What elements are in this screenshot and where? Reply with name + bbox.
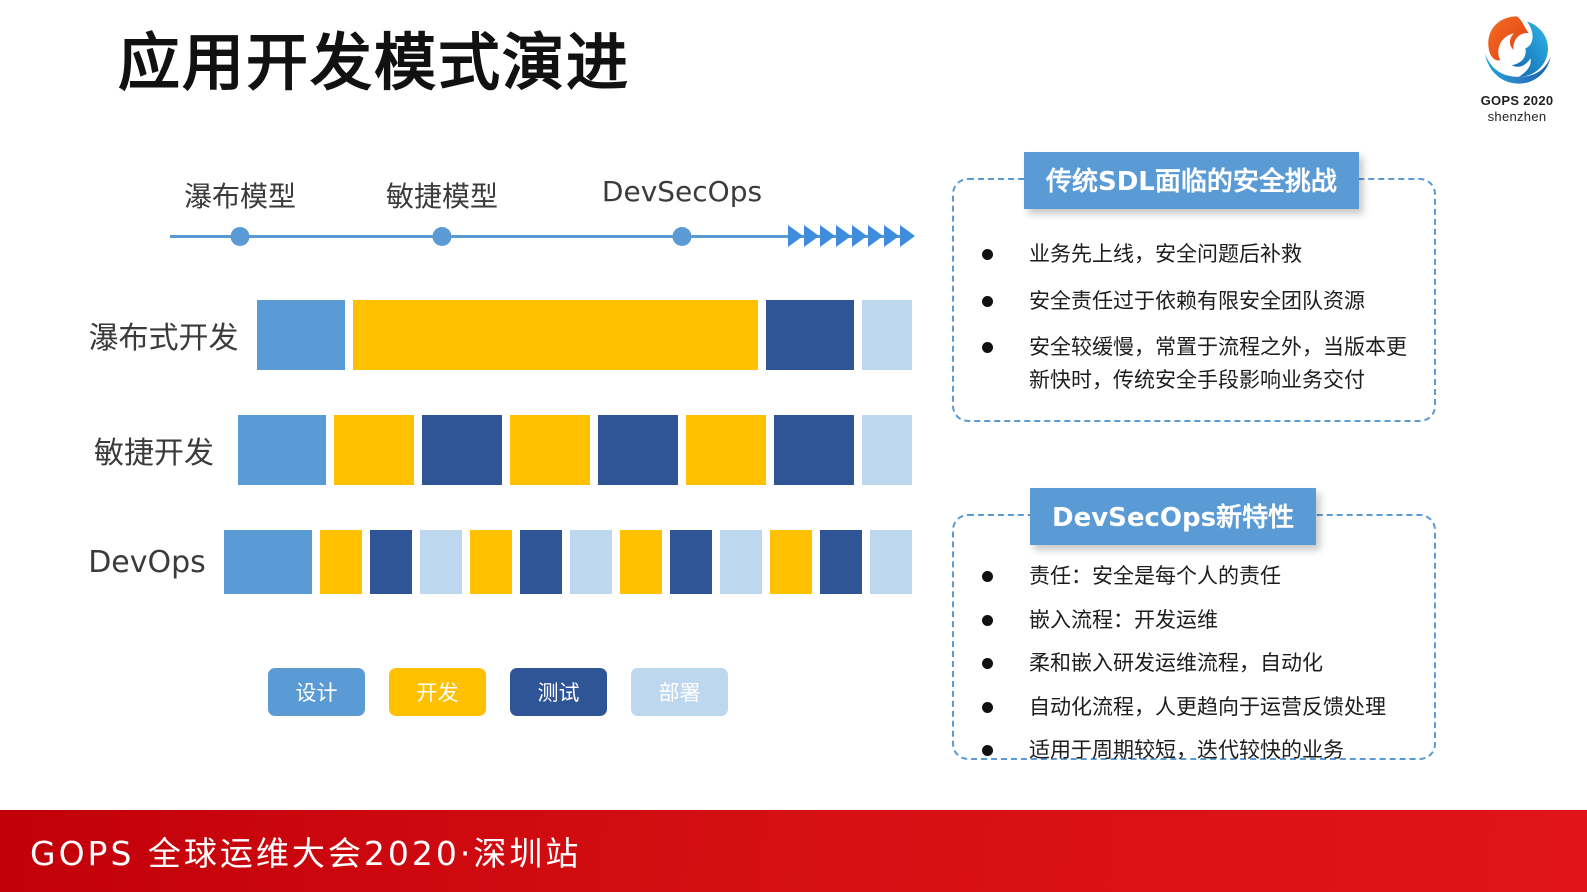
row-bars-waterfall — [257, 300, 920, 370]
legend-item-测试[interactable]: 测试 — [510, 668, 607, 716]
bullet-text: 安全责任过于依赖有限安全团队资源 — [1029, 285, 1365, 318]
timeline-label-waterfall: 瀑布模型 — [184, 175, 296, 215]
timeline-label-devsecops: DevSecOps — [602, 175, 762, 208]
panel-devsecops-bullets: 责任：安全是每个人的责任嵌入流程：开发运维柔和嵌入研发运维流程，自动化自动化流程… — [982, 560, 1416, 778]
evolution-timeline: 瀑布模型 敏捷模型 DevSecOps — [170, 175, 910, 255]
bar-segment-部署 — [870, 530, 912, 594]
bar-segment-开发 — [770, 530, 812, 594]
row-label-waterfall: 瀑布式开发 — [70, 313, 257, 357]
slide-root: GOPS 2020 shenzhen 应用开发模式演进 瀑布模型 敏捷模型 De… — [0, 0, 1587, 892]
bullet-item: 安全较缓慢，常置于流程之外，当版本更新快时，传统安全手段影响业务交付 — [982, 331, 1416, 396]
footer-bar: GOPS 全球运维大会2020·深圳站 — [0, 810, 1587, 892]
bar-segment-测试 — [774, 415, 854, 485]
timeline-arrowheads — [788, 225, 915, 247]
bar-segment-部署 — [720, 530, 762, 594]
timeline-labels: 瀑布模型 敏捷模型 DevSecOps — [170, 175, 910, 219]
bullet-item: 业务先上线，安全问题后补救 — [982, 238, 1416, 271]
row-bars-agile — [238, 415, 920, 485]
bullet-item: 安全责任过于依赖有限安全团队资源 — [982, 285, 1416, 318]
legend-item-设计[interactable]: 设计 — [268, 668, 365, 716]
timeline-dot-waterfall — [231, 227, 250, 246]
row-label-devops: DevOps — [70, 545, 224, 580]
bullet-item: 柔和嵌入研发运维流程，自动化 — [982, 647, 1416, 680]
bar-segment-测试 — [670, 530, 712, 594]
bar-segment-部署 — [862, 300, 912, 370]
bullet-text: 适用于周期较短，迭代较快的业务 — [1029, 734, 1344, 767]
bar-segment-测试 — [598, 415, 678, 485]
bar-segment-测试 — [422, 415, 502, 485]
bar-segment-部署 — [862, 415, 912, 485]
chart-legend: 设计开发测试部署 — [268, 668, 728, 716]
bar-segment-开发 — [686, 415, 766, 485]
bar-segment-测试 — [820, 530, 862, 594]
arrow-head-icon — [804, 225, 819, 247]
bar-segment-开发 — [470, 530, 512, 594]
bullet-dot-icon — [982, 296, 993, 307]
process-bar-chart: 瀑布式开发 敏捷开发 DevOps — [70, 300, 920, 594]
bar-segment-测试 — [766, 300, 854, 370]
row-label-agile: 敏捷开发 — [70, 428, 238, 472]
bar-segment-设计 — [257, 300, 345, 370]
bullet-dot-icon — [982, 249, 993, 260]
footer-text: GOPS 全球运维大会2020·深圳站 — [30, 827, 581, 875]
bullet-dot-icon — [982, 745, 993, 756]
arrow-head-icon — [900, 225, 915, 247]
bullet-dot-icon — [982, 615, 993, 626]
bullet-dot-icon — [982, 342, 993, 353]
bullet-item: 责任：安全是每个人的责任 — [982, 560, 1416, 593]
bullet-text: 业务先上线，安全问题后补救 — [1029, 238, 1302, 271]
legend-item-部署[interactable]: 部署 — [631, 668, 728, 716]
bullet-item: 适用于周期较短，迭代较快的业务 — [982, 734, 1416, 767]
arrow-head-icon — [884, 225, 899, 247]
bar-segment-部署 — [570, 530, 612, 594]
bar-segment-测试 — [520, 530, 562, 594]
timeline-dot-agile — [433, 227, 452, 246]
bullet-dot-icon — [982, 658, 993, 669]
logo-subtitle: shenzhen — [1462, 109, 1572, 124]
panel-sdl-header: 传统SDL面临的安全挑战 — [1024, 152, 1359, 209]
bar-segment-部署 — [420, 530, 462, 594]
bar-segment-开发 — [510, 415, 590, 485]
bullet-dot-icon — [982, 571, 993, 582]
bullet-dot-icon — [982, 702, 993, 713]
arrow-head-icon — [788, 225, 803, 247]
bullet-item: 自动化流程，人更趋向于运营反馈处理 — [982, 691, 1416, 724]
bullet-text: 嵌入流程：开发运维 — [1029, 604, 1218, 637]
gops-logo-mark — [1475, 8, 1559, 92]
gops-logo: GOPS 2020 shenzhen — [1462, 8, 1572, 126]
bullet-text: 自动化流程，人更趋向于运营反馈处理 — [1029, 691, 1386, 724]
bar-segment-测试 — [370, 530, 412, 594]
bar-segment-开发 — [353, 300, 758, 370]
chart-row-agile: 敏捷开发 — [70, 415, 920, 485]
row-bars-devops — [224, 530, 920, 594]
arrow-head-icon — [852, 225, 867, 247]
bar-segment-开发 — [334, 415, 414, 485]
legend-item-开发[interactable]: 开发 — [389, 668, 486, 716]
gops-swirl-icon — [1475, 8, 1559, 92]
arrow-head-icon — [836, 225, 851, 247]
panel-sdl-challenges: 传统SDL面临的安全挑战 业务先上线，安全问题后补救安全责任过于依赖有限安全团队… — [952, 152, 1436, 422]
bar-segment-开发 — [620, 530, 662, 594]
bar-segment-设计 — [238, 415, 326, 485]
chart-row-devops: DevOps — [70, 530, 920, 594]
panel-devsecops-features: DevSecOps新特性 责任：安全是每个人的责任嵌入流程：开发运维柔和嵌入研发… — [952, 488, 1436, 760]
timeline-dot-devsecops — [673, 227, 692, 246]
bar-segment-设计 — [224, 530, 312, 594]
arrow-head-icon — [820, 225, 835, 247]
arrow-head-icon — [868, 225, 883, 247]
bullet-text: 安全较缓慢，常置于流程之外，当版本更新快时，传统安全手段影响业务交付 — [1029, 331, 1416, 396]
timeline-label-agile: 敏捷模型 — [386, 175, 498, 215]
bullet-text: 责任：安全是每个人的责任 — [1029, 560, 1281, 593]
page-title: 应用开发模式演进 — [118, 30, 630, 95]
bar-segment-开发 — [320, 530, 362, 594]
logo-title: GOPS 2020 — [1462, 93, 1572, 108]
panel-sdl-bullets: 业务先上线，安全问题后补救安全责任过于依赖有限安全团队资源安全较缓慢，常置于流程… — [982, 238, 1416, 410]
bullet-text: 柔和嵌入研发运维流程，自动化 — [1029, 647, 1323, 680]
chart-row-waterfall: 瀑布式开发 — [70, 300, 920, 370]
bullet-item: 嵌入流程：开发运维 — [982, 604, 1416, 637]
panel-devsecops-header: DevSecOps新特性 — [1030, 488, 1316, 545]
